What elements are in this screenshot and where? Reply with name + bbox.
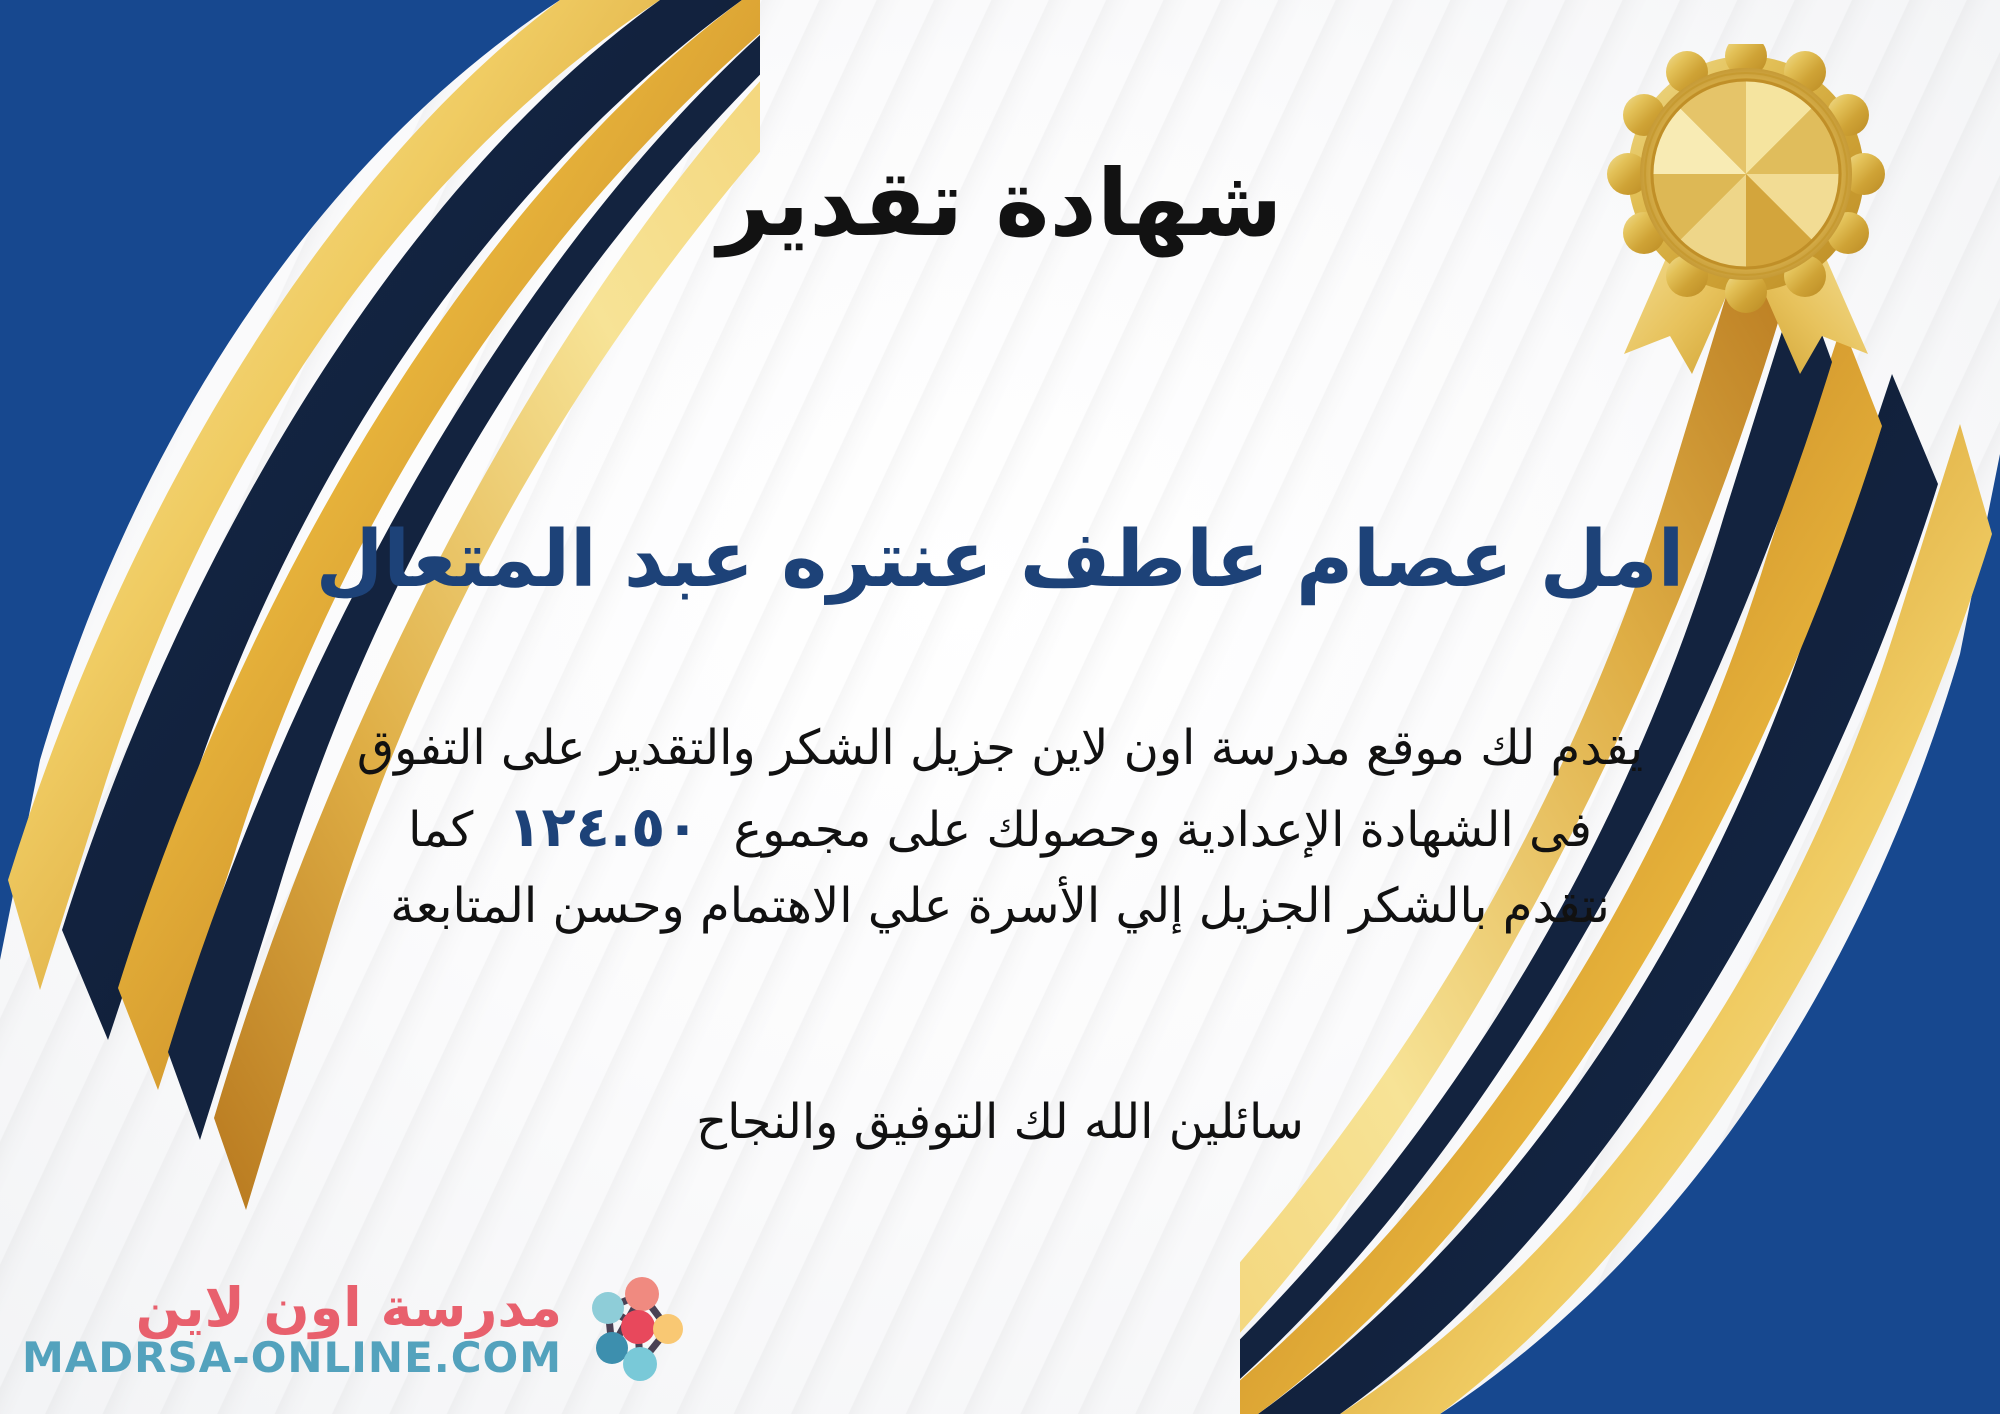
certificate-body: يقدم لك موقع مدرسة اون لاين جزيل الشكر و… (40, 712, 1960, 943)
certificate-canvas: شهادة تقدير امل عصام عاطف عنتره عبد المت… (0, 0, 2000, 1414)
body-line-2-prefix: فى الشهادة الإعدادية وحصولك على مجموع (734, 794, 1592, 867)
student-name: امل عصام عاطف عنتره عبد المتعال (0, 512, 2000, 610)
closing-wish: سائلين الله لك التوفيق والنجاح (0, 1094, 2000, 1150)
network-nodes-icon (572, 1272, 690, 1384)
body-line-2: فى الشهادة الإعدادية وحصولك على مجموع ١٢… (40, 785, 1960, 870)
certificate-title: شهادة تقدير (0, 150, 2000, 259)
logo-website-url: MADRSA-ONLINE.COM (22, 1336, 562, 1380)
logo-arabic-name: مدرسة اون لاين (22, 1280, 562, 1336)
total-score-value: ١٢٤.٥٠ (507, 785, 699, 870)
logo-mark (572, 1272, 690, 1388)
body-line-3: نتقدم بالشكر الجزيل إلي الأسرة علي الاهت… (40, 870, 1960, 943)
body-line-1: يقدم لك موقع مدرسة اون لاين جزيل الشكر و… (40, 712, 1960, 785)
certificate-content: شهادة تقدير امل عصام عاطف عنتره عبد المت… (0, 0, 2000, 1414)
body-line-2-suffix: كما (408, 794, 473, 867)
logo-text-block: مدرسة اون لاين MADRSA-ONLINE.COM (22, 1280, 562, 1380)
site-logo[interactable]: مدرسة اون لاين MADRSA-ONLINE.COM (22, 1272, 690, 1388)
